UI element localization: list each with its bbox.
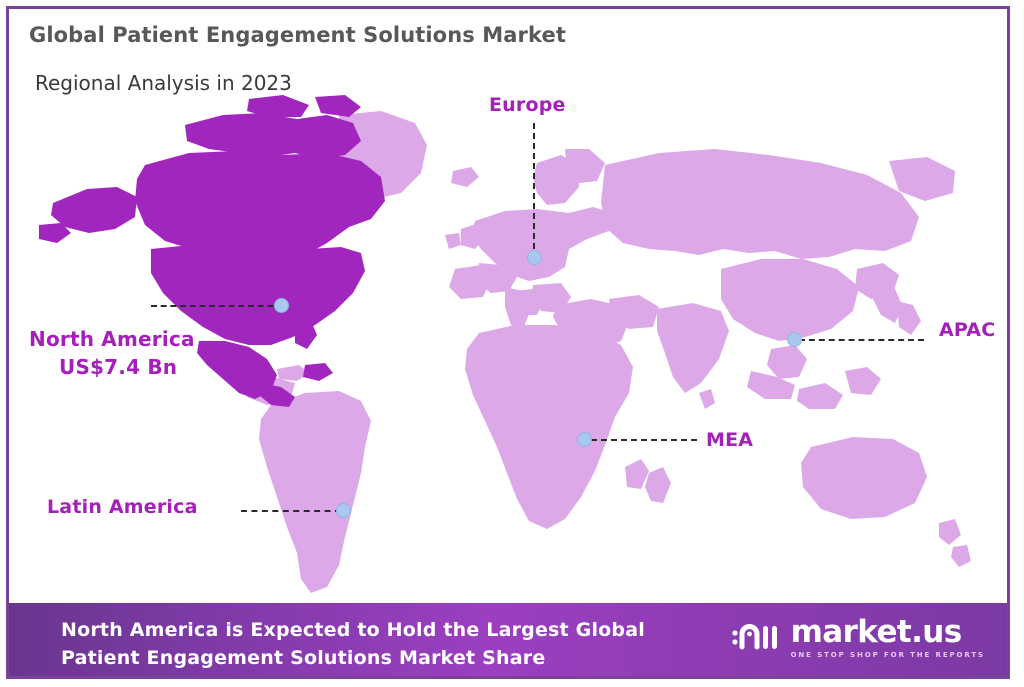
- map-marker-north-america[interactable]: [274, 298, 289, 313]
- footer-callout-line2: Patient Engagement Solutions Market Shar…: [61, 644, 645, 672]
- map-marker-apac[interactable]: [787, 332, 802, 347]
- footer-callout-line1: North America is Expected to Hold the La…: [61, 616, 645, 644]
- region-value-north-america: US$7.4 Bn: [59, 355, 177, 379]
- leader-line-mea: [591, 439, 697, 441]
- region-label-latin-america: Latin America: [47, 496, 198, 518]
- footer-banner: North America is Expected to Hold the La…: [9, 603, 1007, 676]
- market-us-logo-icon: [730, 617, 782, 659]
- brand-logo-words: market.us ONE STOP SHOP FOR THE REPORTS: [791, 617, 985, 659]
- map-marker-europe[interactable]: [527, 250, 542, 265]
- leader-line-europe: [533, 123, 535, 259]
- region-label-north-america: North America: [29, 327, 195, 351]
- page-title: Global Patient Engagement Solutions Mark…: [29, 23, 566, 47]
- leader-line-latin-america: [241, 510, 341, 512]
- region-label-mea: MEA: [706, 429, 753, 451]
- map-marker-latin-america[interactable]: [336, 503, 351, 518]
- region-label-apac: APAC: [939, 319, 995, 341]
- infographic-canvas: Global Patient Engagement Solutions Mark…: [9, 9, 1007, 676]
- infographic-frame: Global Patient Engagement Solutions Mark…: [6, 6, 1010, 679]
- footer-callout: North America is Expected to Hold the La…: [61, 616, 645, 672]
- brand-tagline: ONE STOP SHOP FOR THE REPORTS: [791, 651, 985, 659]
- leader-line-apac: [799, 339, 924, 341]
- region-label-europe: Europe: [489, 94, 566, 116]
- brand-name: market.us: [791, 617, 985, 648]
- map-marker-mea[interactable]: [577, 432, 592, 447]
- brand-logo[interactable]: market.us ONE STOP SHOP FOR THE REPORTS: [730, 617, 985, 659]
- leader-line-north-america: [151, 305, 283, 307]
